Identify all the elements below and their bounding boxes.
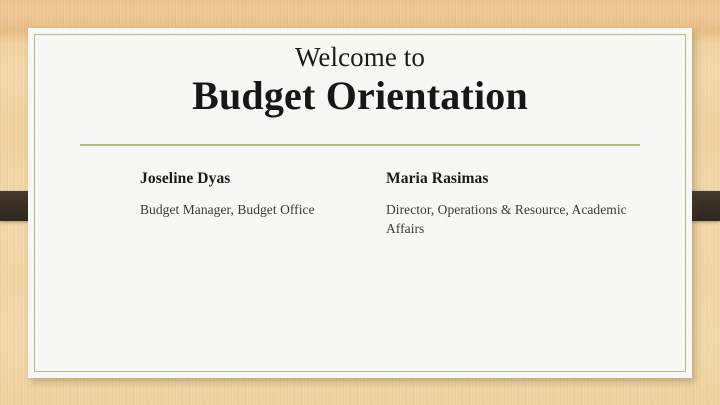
- title-block: Welcome to Budget Orientation: [28, 42, 692, 119]
- presenter-role: Director, Operations & Resource, Academi…: [386, 200, 646, 238]
- presenter-list: Joseline Dyas Budget Manager, Budget Off…: [140, 170, 660, 238]
- slide-eyebrow: Welcome to: [28, 42, 692, 72]
- slide-stage: Welcome to Budget Orientation Joseline D…: [0, 0, 720, 405]
- presenter-item: Joseline Dyas Budget Manager, Budget Off…: [140, 170, 386, 219]
- slide-title: Budget Orientation: [28, 74, 692, 119]
- presenter-role: Budget Manager, Budget Office: [140, 200, 378, 219]
- presenter-name: Joseline Dyas: [140, 170, 378, 189]
- presenter-item: Maria Rasimas Director, Operations & Res…: [386, 170, 646, 238]
- slide-panel: Welcome to Budget Orientation Joseline D…: [28, 28, 692, 378]
- presenter-name: Maria Rasimas: [386, 170, 646, 189]
- title-divider: [80, 144, 640, 146]
